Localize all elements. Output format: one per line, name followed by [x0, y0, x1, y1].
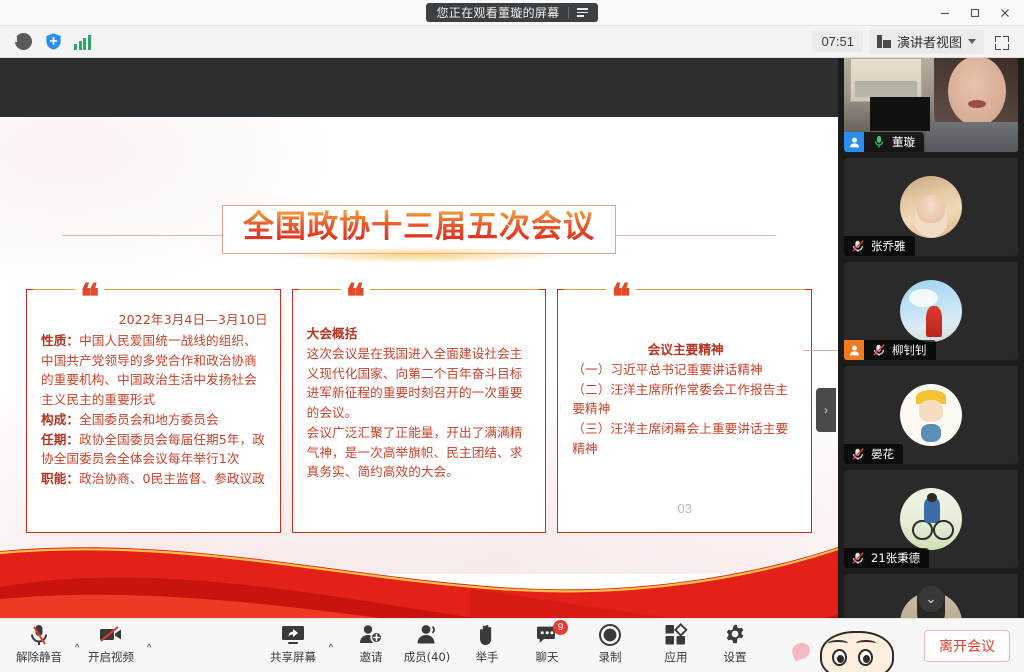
meeting-control-bar: 解除静音 ^ 开启视频 ^ 共享屏幕 ^ 邀请 成员(4	[0, 618, 1024, 672]
share-screen-button[interactable]: 共享屏幕	[258, 623, 328, 669]
card-3-para-0: （一）习近平总书记重要讲话精神	[572, 360, 799, 380]
fullscreen-icon[interactable]	[990, 31, 1014, 53]
invite-label: 邀请	[360, 649, 383, 665]
view-mode-selector[interactable]: 演讲者视图	[869, 29, 984, 54]
participant-nameplate: 董璇	[844, 132, 924, 152]
avatar	[900, 488, 962, 550]
card-1-label-0: 性质：	[41, 333, 79, 348]
add-person-icon	[358, 623, 384, 647]
chat-button[interactable]: 9 聊天	[512, 623, 582, 669]
scroll-down-chevron-icon[interactable]: ⌄	[918, 586, 944, 612]
screen-share-banner[interactable]: 您正在观看董璇的屏幕	[426, 3, 597, 22]
unmute-button[interactable]: 解除静音	[4, 623, 74, 669]
participant-nameplate: 柳钊钊	[844, 340, 936, 360]
heart-icon	[792, 640, 812, 661]
network-quality-button[interactable]	[72, 31, 94, 53]
card-1-body: 2022年3月4日—3月10日 性质：中国人民爱国统一战线的组织、中国共产党领导…	[41, 310, 268, 489]
window-titlebar: 您正在观看董璇的屏幕	[0, 0, 1024, 26]
chat-label: 聊天	[536, 649, 559, 665]
card-topline	[299, 289, 540, 290]
card-topline	[33, 289, 274, 290]
person-icon	[414, 623, 440, 647]
participant-nameplate: 张乔雅	[844, 236, 915, 256]
share-banner-text: 您正在观看董璇的屏幕	[436, 7, 559, 19]
card-topline	[564, 289, 805, 290]
record-circle-icon	[598, 623, 622, 647]
card-1-text-1: 全国委员会和地方委员会	[79, 412, 219, 427]
slide-card-3: ❝ 会议主要精神 （一）习近平总书记重要讲话精神 （二）汪洋主席所作常委会工作报…	[557, 289, 812, 533]
participant-tile-2[interactable]: 柳钊钊	[844, 262, 1018, 360]
card-2-body: 大会概括 这次会议是在我国进入全面建设社会主义现代化国家、向第二个百年奋斗目标进…	[307, 310, 534, 482]
shield-icon	[44, 32, 63, 51]
share-screen-icon	[280, 623, 306, 647]
slide-ribbon-decoration	[0, 529, 838, 618]
card-3-para-2: （三）汪洋主席闭幕会上重要讲话主要精神	[572, 419, 799, 459]
unmute-label: 解除静音	[16, 649, 62, 665]
apps-label: 应用	[665, 649, 688, 665]
card-1-text-3: 政治协商、0民主监督、参政议政	[79, 471, 265, 486]
participant-tile-4[interactable]: 21张秉德	[844, 470, 1018, 568]
maximize-button[interactable]	[960, 0, 990, 26]
participant-nameplate: 晏花	[844, 444, 903, 464]
speaker-view-icon	[877, 35, 891, 48]
minimize-button[interactable]	[930, 0, 960, 26]
participant-nameplate: 21张秉德	[844, 548, 929, 568]
security-button[interactable]	[42, 31, 64, 53]
participant-filmstrip[interactable]: 董璇 张乔雅 柳钊钊	[838, 58, 1024, 618]
participant-tile-1[interactable]: 张乔雅	[844, 158, 1018, 256]
card-1-label-2: 任期：	[41, 432, 79, 447]
cartoon-face-icon	[820, 631, 894, 672]
slide-card-1: ❝ 2022年3月4日—3月10日 性质：中国人民爱国统一战线的组织、中国共产党…	[26, 289, 281, 533]
hamburger-icon[interactable]	[577, 8, 588, 17]
collapse-panel-handle[interactable]: ›	[816, 388, 836, 432]
video-muted-icon	[98, 623, 124, 647]
meeting-info-button[interactable]: i	[12, 31, 34, 53]
card-3-para-1: （二）汪洋主席所作常委会工作报告主要精神	[572, 380, 799, 420]
card-2-para-0: 这次会议是在我国进入全面建设社会主义现代化国家、向第二个百年奋斗目标进军新征程的…	[307, 344, 534, 423]
record-label: 录制	[599, 649, 622, 665]
participant-name: 晏花	[871, 446, 894, 462]
apps-grid-icon	[664, 623, 688, 647]
participant-name: 张乔雅	[871, 238, 906, 254]
meeting-view-group: 07:51 演讲者视图	[812, 29, 1024, 54]
chat-unread-badge: 9	[553, 620, 568, 635]
card-1-label-3: 职能：	[41, 471, 79, 486]
raised-hand-icon	[475, 623, 499, 647]
card-3-body: 会议主要精神 （一）习近平总书记重要讲话精神 （二）汪洋主席所作常委会工作报告主…	[572, 310, 799, 459]
network-signal-icon	[74, 34, 92, 50]
person-badge-icon	[844, 132, 864, 152]
participant-name: 21张秉德	[871, 550, 920, 566]
card-3-heading: 会议主要精神	[572, 340, 799, 360]
title-glow	[279, 247, 559, 263]
quote-mark-icon: ❝	[341, 279, 370, 315]
record-button[interactable]: 录制	[575, 623, 645, 669]
avatar	[900, 280, 962, 342]
settings-label: 设置	[724, 649, 747, 665]
participant-name: 柳钊钊	[892, 342, 927, 358]
microphone-on-icon	[871, 135, 887, 149]
microphone-muted-icon	[850, 447, 866, 461]
microphone-muted-icon	[850, 239, 866, 253]
close-button[interactable]	[990, 0, 1020, 26]
info-icon: i	[15, 33, 32, 50]
slide-title: 全国政协十三届五次会议	[243, 210, 595, 246]
presentation-slide: 全国政协十三届五次会议 ❝ 2022年3月4日—3月10日 性质：中国人民爱国统…	[0, 117, 838, 618]
card-2-heading: 大会概括	[307, 324, 534, 344]
card-2-para-1: 会议广泛汇聚了正能量，开出了满满精气神，是一次高举旗帜、民主团结、求真务实、简约…	[307, 423, 534, 482]
leave-meeting-button[interactable]: 离开会议	[924, 630, 1010, 662]
chevron-down-icon	[968, 39, 976, 44]
participant-tile-0[interactable]: 董璇	[844, 58, 1018, 152]
microphone-muted-icon	[28, 623, 50, 647]
person-badge-icon	[844, 340, 864, 360]
quote-mark-icon: ❝	[606, 279, 635, 315]
microphone-muted-icon	[850, 551, 866, 565]
avatar	[900, 384, 962, 446]
slide-cards: ❝ 2022年3月4日—3月10日 性质：中国人民爱国统一战线的组织、中国共产党…	[26, 289, 812, 533]
meeting-info-group: i	[0, 31, 94, 53]
window-controls	[930, 0, 1020, 26]
meeting-timer: 07:51	[812, 31, 863, 52]
quote-mark-icon: ❝	[75, 279, 104, 315]
shared-screen-stage: 全国政协十三届五次会议 ❝ 2022年3月4日—3月10日 性质：中国人民爱国统…	[0, 58, 838, 618]
raise-hand-label: 举手	[476, 649, 499, 665]
slide-title-area: 全国政协十三届五次会议	[0, 205, 838, 265]
view-mode-label: 演讲者视图	[897, 32, 962, 51]
card-1-label-1: 构成：	[41, 412, 79, 427]
avatar	[900, 176, 962, 238]
zoom-meeting-window: 您正在观看董璇的屏幕 i	[0, 0, 1024, 672]
share-screen-label: 共享屏幕	[270, 649, 316, 665]
microphone-muted-icon	[871, 343, 887, 357]
participants-label: 成员(40)	[404, 649, 451, 665]
divider	[568, 7, 569, 19]
mascot-decoration	[792, 629, 912, 672]
slide-card-2: ❝ 大会概括 这次会议是在我国进入全面建设社会主义现代化国家、向第二个百年奋斗目…	[292, 289, 547, 533]
chat-bubble-icon: 9	[535, 623, 559, 647]
participant-tile-3[interactable]: 晏花	[844, 366, 1018, 464]
video-options-chevron-icon[interactable]: ^	[142, 641, 156, 655]
settings-button[interactable]: 设置	[700, 623, 770, 669]
start-video-label: 开启视频	[88, 649, 134, 665]
slide-page-number: 03	[558, 501, 811, 516]
gear-icon	[723, 623, 747, 647]
letterbox-bar	[0, 58, 838, 117]
start-video-button[interactable]: 开启视频	[76, 623, 146, 669]
meeting-top-toolbar: i 07:51 演讲者视图	[0, 26, 1024, 58]
participant-name: 董璇	[892, 134, 915, 150]
